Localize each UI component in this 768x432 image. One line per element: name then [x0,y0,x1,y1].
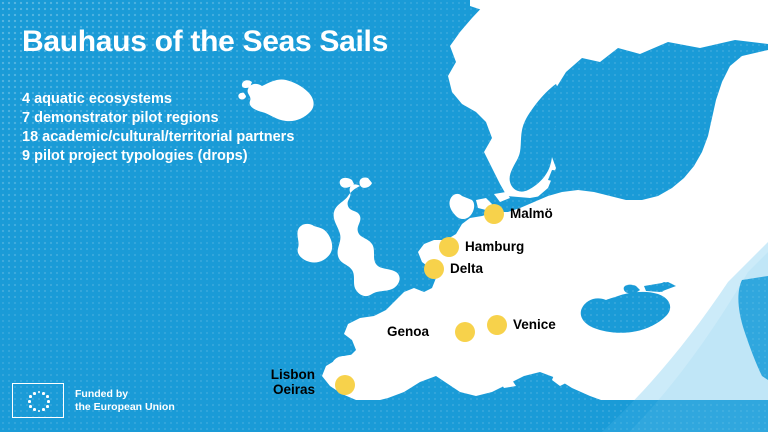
eu-star-icon [47,400,50,403]
marker-dot [335,375,355,395]
eu-star-icon [42,392,45,395]
fact-item: 7 demonstrator pilot regions [22,109,294,128]
marker-label: Hamburg [465,239,524,254]
marker-dot [439,237,459,257]
page-title: Bauhaus of the Seas Sails [22,25,388,59]
marker-label-line1: Lisbon [271,367,315,382]
marker-label: Venice [513,317,556,332]
marker-dot [484,204,504,224]
marker-label-line2: Oeiras [271,382,315,397]
marker-label: Delta [450,261,483,276]
marker-dot [455,322,475,342]
eu-star-icon [29,405,32,408]
key-facts-list: 4 aquatic ecosystems 7 demonstrator pilo… [22,90,294,166]
eu-flag-icon [12,383,64,418]
infographic-canvas: Bauhaus of the Seas Sails 4 aquatic ecos… [0,0,768,432]
eu-star-icon [33,408,36,411]
eu-star-icon [28,400,31,403]
europe-map [0,0,768,432]
eu-star-icon [42,408,45,411]
marker-dot [487,315,507,335]
marker-label: Malmö [510,206,553,221]
funding-line-2: the European Union [75,401,175,414]
funding-line-1: Funded by [75,388,175,401]
marker-label: Genoa [387,324,429,339]
eu-star-icon [46,405,49,408]
marker-label-group: Lisbon Oeiras [271,367,315,397]
fact-item: 9 pilot project typologies (drops) [22,147,294,166]
eu-star-icon [29,395,32,398]
eu-star-icon [38,391,41,394]
eu-star-icon [33,392,36,395]
marker-dot [424,259,444,279]
eu-funding-badge: Funded by the European Union [12,383,175,418]
eu-star-icon [38,410,41,413]
fact-item: 18 academic/cultural/territorial partner… [22,128,294,147]
eu-star-icon [46,395,49,398]
eu-funding-text: Funded by the European Union [75,388,175,414]
fact-item: 4 aquatic ecosystems [22,90,294,109]
